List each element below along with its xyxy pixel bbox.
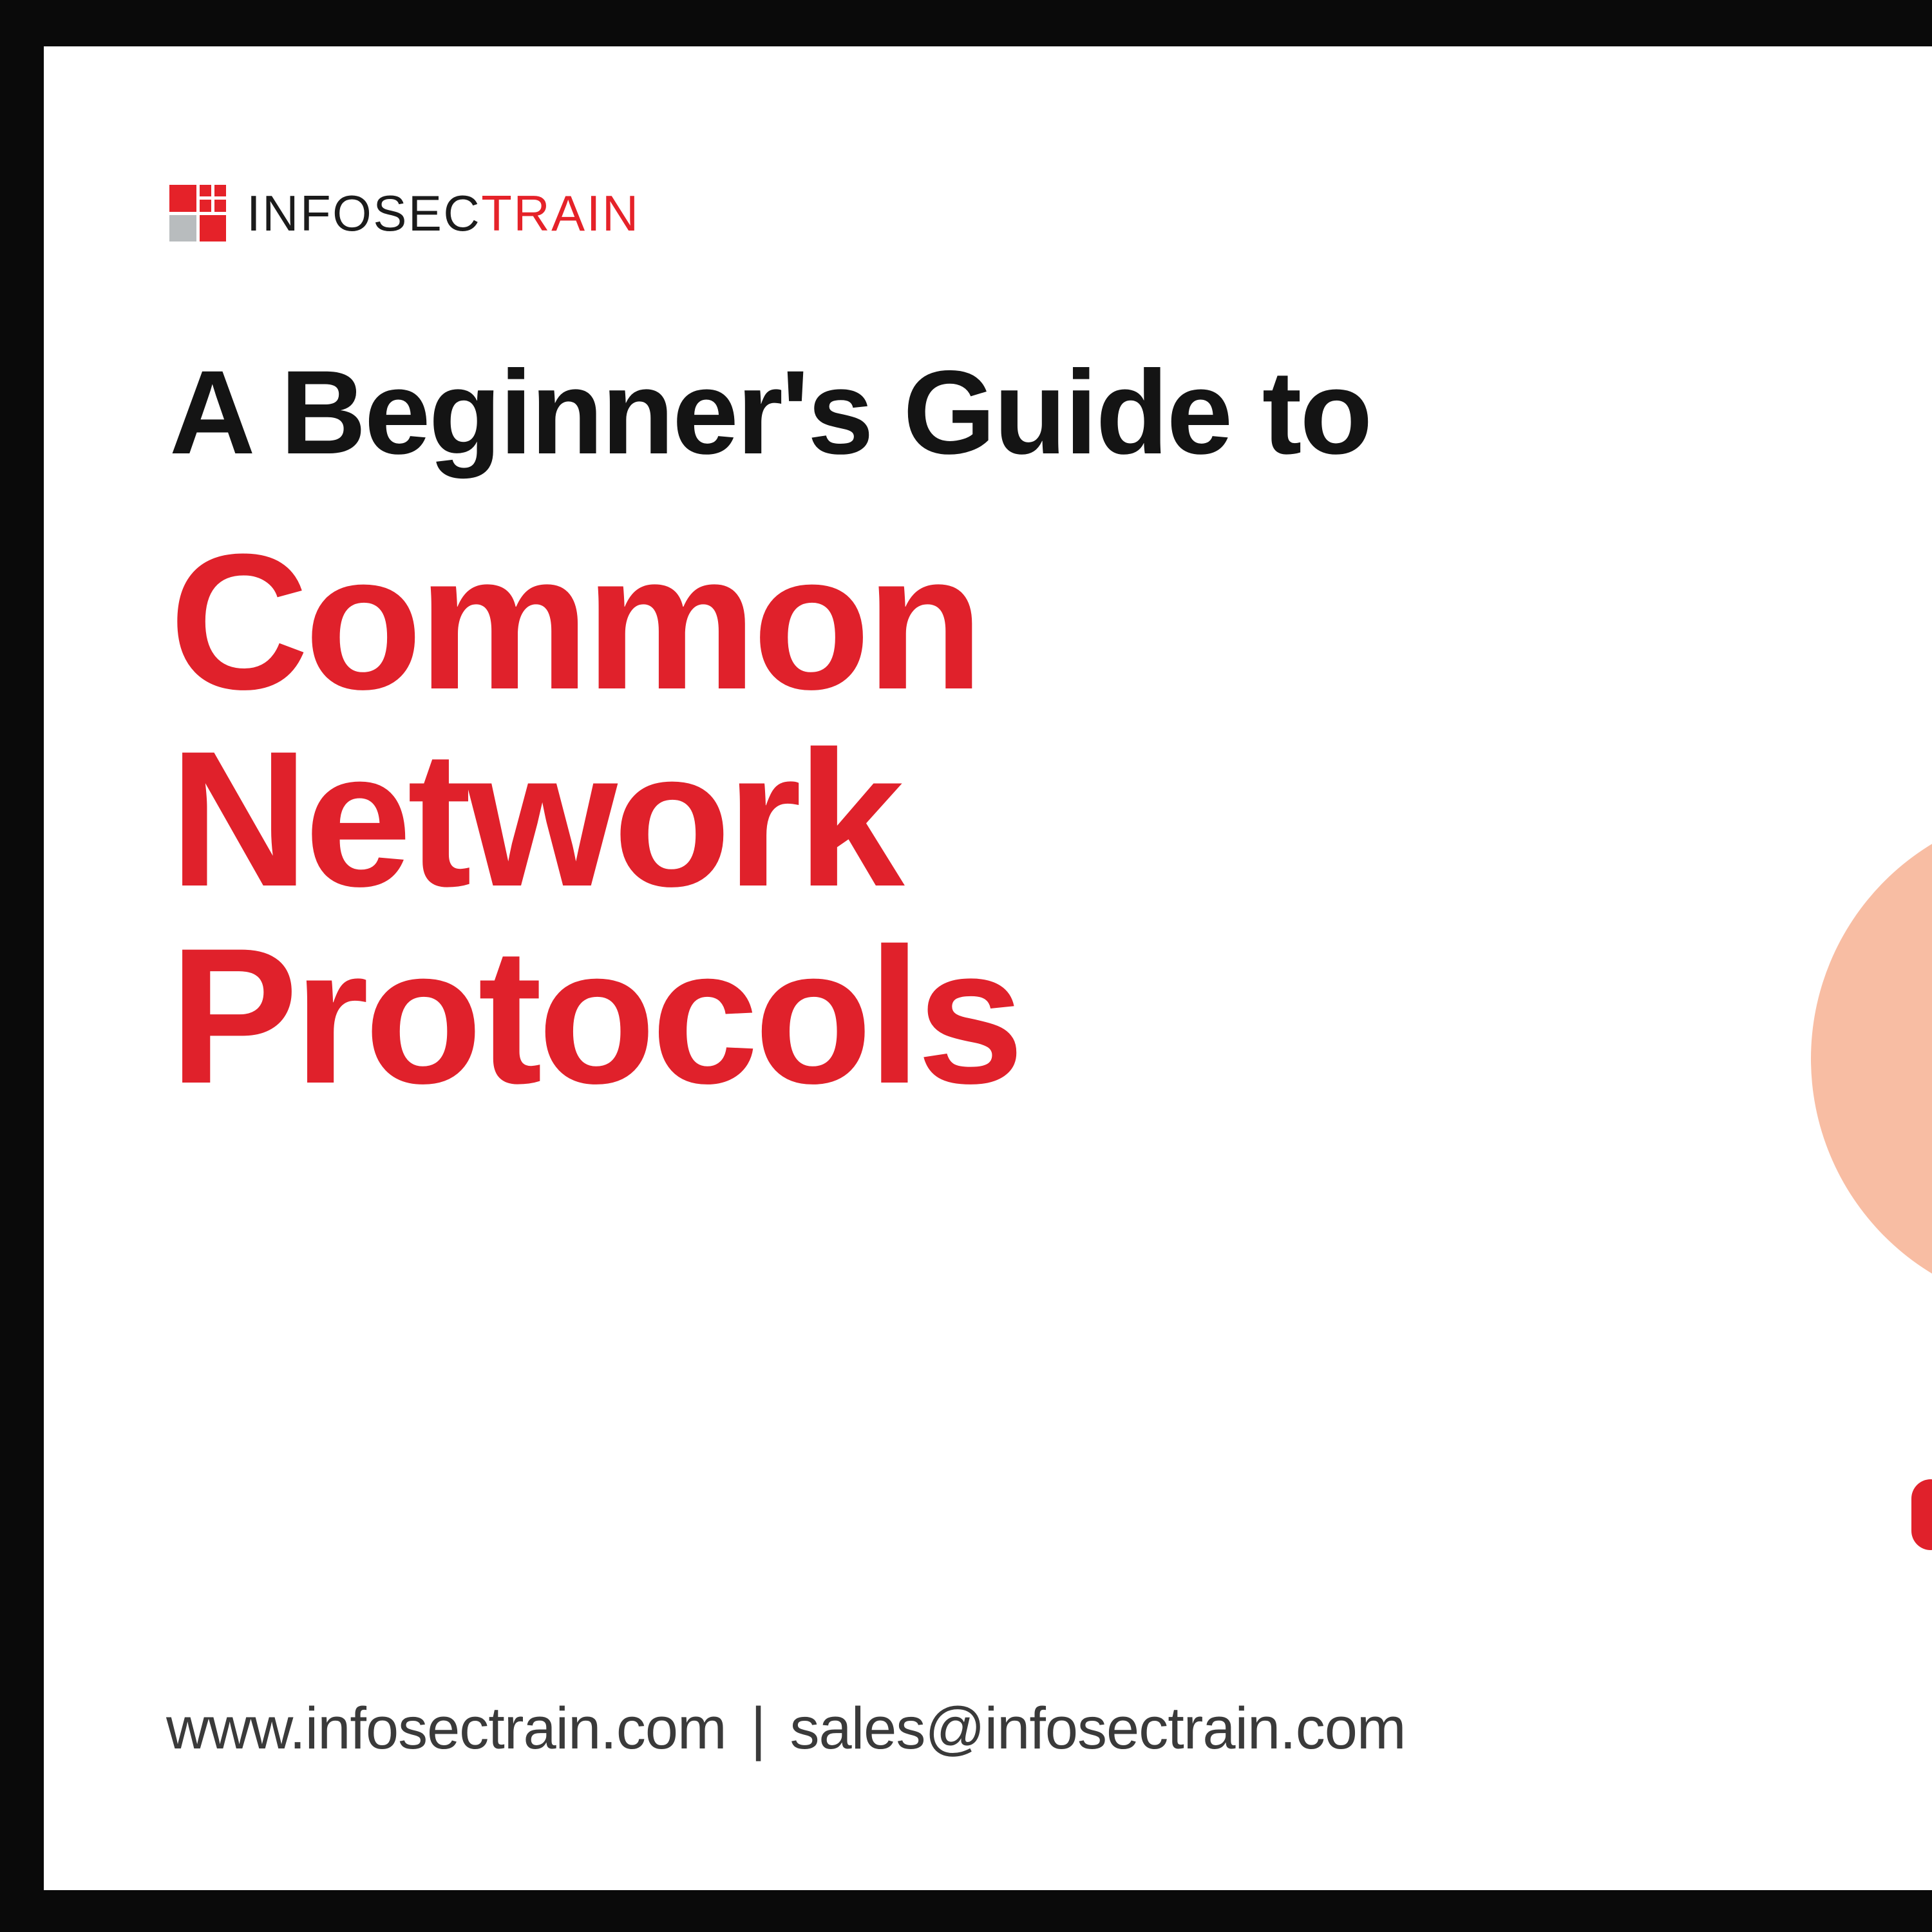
logo-mark-cell-bottom-left (169, 215, 196, 242)
headline-title-line-1: Common (169, 523, 1618, 720)
headline-eyebrow: A Beginner's Guide to (169, 349, 1618, 478)
brand-wordmark-infosec: INFOSEC (247, 188, 481, 238)
logo-mark-dot (214, 200, 226, 211)
brand-wordmark-train: TRAIN (481, 188, 640, 238)
headline-title-line-2: Network (169, 720, 1618, 917)
slide-frame: INFOSECTRAIN A Beginner's Guide to Commo… (0, 0, 1932, 1932)
logo-mark-dot (214, 185, 226, 196)
logo-mark-dot (200, 185, 211, 196)
logo-mark-cell-top-right-dots (200, 185, 227, 212)
logo-mark-cell-bottom-right (200, 215, 227, 242)
infosectrain-logo-mark-icon (169, 185, 226, 241)
headline-title: Common Network Protocols (169, 523, 1618, 1114)
footer-email-link[interactable]: sales@infosectrain.com (790, 1695, 1406, 1763)
logo-mark-cell-top-left (169, 185, 196, 212)
brand-wordmark: INFOSECTRAIN (247, 188, 640, 238)
logo-mark-dot (200, 200, 211, 211)
brand-logo[interactable]: INFOSECTRAIN (169, 185, 640, 241)
headline-title-line-3: Protocols (169, 917, 1618, 1114)
footer-website-link[interactable]: www.infosectrain.com (166, 1695, 726, 1763)
slide-content: INFOSECTRAIN A Beginner's Guide to Commo… (44, 46, 1932, 1890)
slide-card: INFOSECTRAIN A Beginner's Guide to Commo… (44, 46, 1932, 1890)
footer-contact: www.infosectrain.com | sales@infosectrai… (166, 1695, 1406, 1763)
footer-separator: | (751, 1695, 766, 1763)
headline-block: A Beginner's Guide to Common Network Pro… (169, 349, 1618, 1114)
